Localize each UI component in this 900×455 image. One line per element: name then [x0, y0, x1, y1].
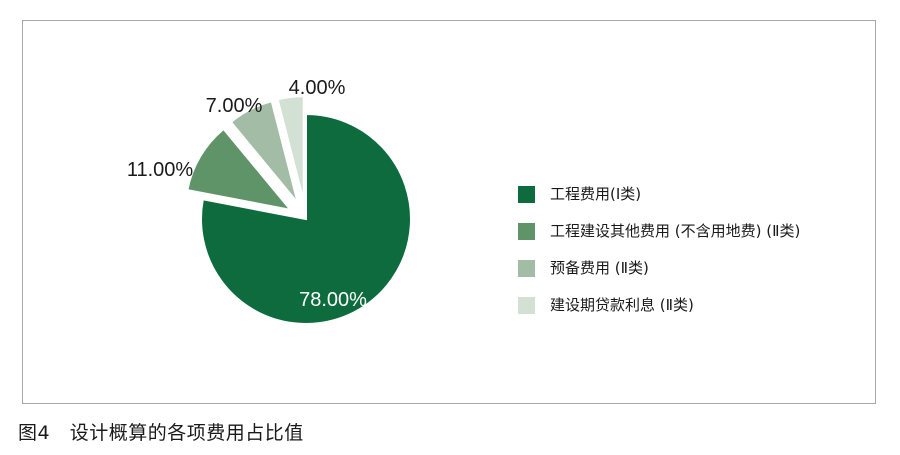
legend-swatch-series-3: [518, 260, 535, 277]
legend-item-daikuan-lixi[interactable]: 建设期贷款利息 (Ⅱ类): [518, 287, 878, 324]
pie-value-label: 78.00%: [299, 289, 367, 311]
legend-swatch-series-2: [518, 223, 535, 240]
pie-value-label: 4.00%: [289, 77, 346, 99]
pie-value-label: 7.00%: [206, 95, 263, 117]
legend-item-gongcheng-feiyong[interactable]: 工程费用(Ⅰ类): [518, 176, 878, 213]
legend-swatch-series-1: [518, 186, 535, 203]
figure-container: 78.00%11.00%7.00%4.00% 工程费用(Ⅰ类) 工程建设其他费用…: [0, 0, 900, 455]
legend-label-series-3: 预备费用 (Ⅱ类): [550, 261, 649, 276]
legend-label-series-2: 工程建设其他费用 (不含用地费) (Ⅱ类): [550, 224, 800, 239]
pie-value-label: 11.00%: [127, 159, 194, 181]
legend-swatch-series-4: [518, 297, 535, 314]
legend-item-qita-feiyong[interactable]: 工程建设其他费用 (不含用地费) (Ⅱ类): [518, 213, 878, 250]
legend-label-series-4: 建设期贷款利息 (Ⅱ类): [550, 298, 694, 313]
chart-legend: 工程费用(Ⅰ类) 工程建设其他费用 (不含用地费) (Ⅱ类) 预备费用 (Ⅱ类)…: [518, 176, 878, 324]
figure-caption: 图4 设计概算的各项费用占比值: [18, 418, 304, 445]
legend-item-yubei-feiyong[interactable]: 预备费用 (Ⅱ类): [518, 250, 878, 287]
chart-frame: 78.00%11.00%7.00%4.00% 工程费用(Ⅰ类) 工程建设其他费用…: [22, 20, 876, 404]
legend-label-series-1: 工程费用(Ⅰ类): [550, 187, 641, 202]
